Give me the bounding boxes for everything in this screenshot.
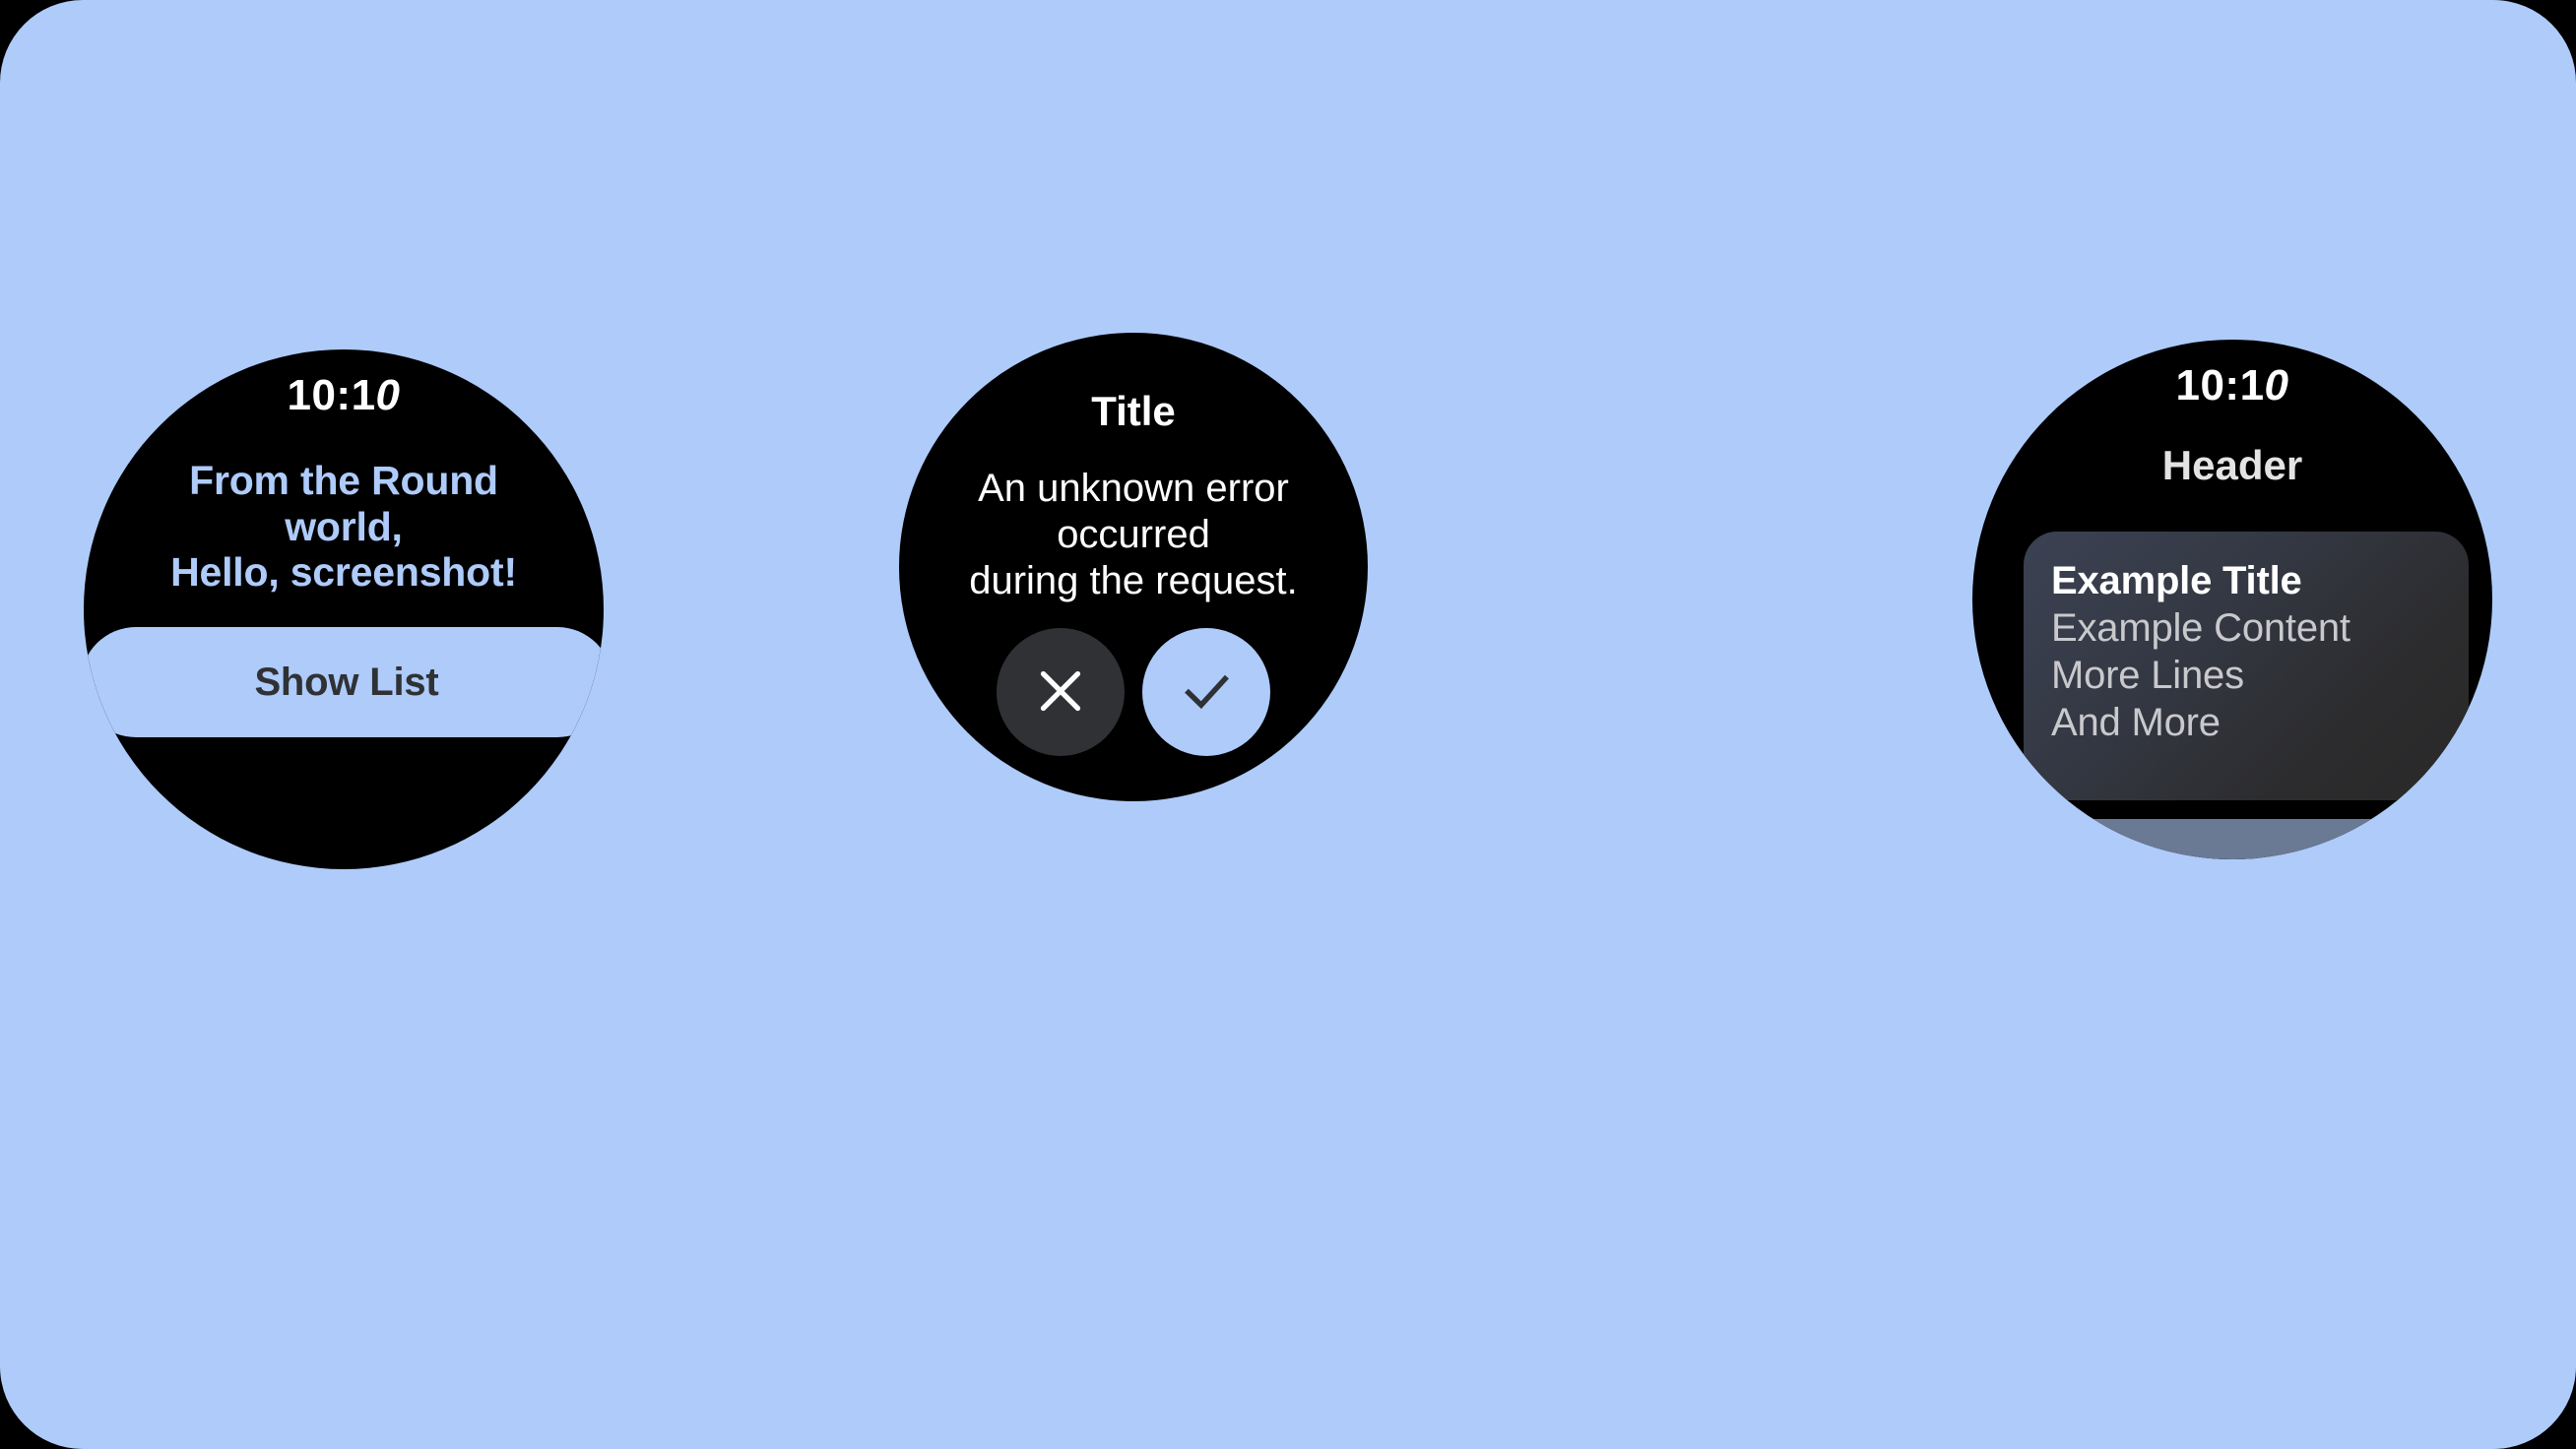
- card-line-3: And More: [2051, 699, 2441, 746]
- watch-screen-alert: Title An unknown error occurred during t…: [899, 333, 1368, 801]
- alert-actions: [899, 628, 1368, 756]
- watch-screen-greeting: 10:10 From the Round world, Hello, scree…: [84, 349, 604, 869]
- time-head: 10:1: [2175, 361, 2264, 409]
- time-tail: 0: [2265, 361, 2289, 409]
- list-item[interactable]: Example Title Example Content More Lines…: [2024, 532, 2469, 800]
- greeting-line-3: Hello, screenshot!: [111, 549, 576, 596]
- alert-title: Title: [899, 388, 1368, 435]
- list-item-next[interactable]: [2024, 819, 2469, 859]
- screenshot-canvas: 10:10 From the Round world, Hello, scree…: [0, 0, 2576, 1449]
- alert-message-line-2: during the request.: [899, 558, 1368, 604]
- time-head: 10:1: [287, 371, 375, 419]
- status-bar-time: 10:10: [1972, 361, 2492, 410]
- card-line-1: Example Content: [2051, 604, 2441, 652]
- confirm-button[interactable]: [1142, 628, 1270, 756]
- greeting-line-1: From the Round: [111, 458, 576, 504]
- status-bar-time: 10:10: [84, 371, 604, 420]
- dismiss-button[interactable]: [997, 628, 1125, 756]
- greeting-line-2: world,: [111, 504, 576, 550]
- time-tail: 0: [376, 371, 401, 419]
- watch-device-alert: Title An unknown error occurred during t…: [899, 333, 1368, 801]
- watch-device-list: 10:10 Header Example Title Example Conte…: [1972, 340, 2492, 859]
- watch-screen-list: 10:10 Header Example Title Example Conte…: [1972, 340, 2492, 859]
- greeting-text: From the Round world, Hello, screenshot!: [111, 458, 576, 596]
- card-title: Example Title: [2051, 557, 2441, 604]
- check-icon: [1176, 661, 1237, 724]
- show-list-button[interactable]: Show List: [84, 627, 604, 737]
- card-line-2: More Lines: [2051, 652, 2441, 699]
- watch-device-greeting: 10:10 From the Round world, Hello, scree…: [84, 349, 604, 869]
- alert-message-line-1: An unknown error occurred: [899, 466, 1368, 558]
- close-icon: [1031, 661, 1090, 724]
- list-header: Header: [1972, 442, 2492, 489]
- alert-message: An unknown error occurred during the req…: [899, 466, 1368, 605]
